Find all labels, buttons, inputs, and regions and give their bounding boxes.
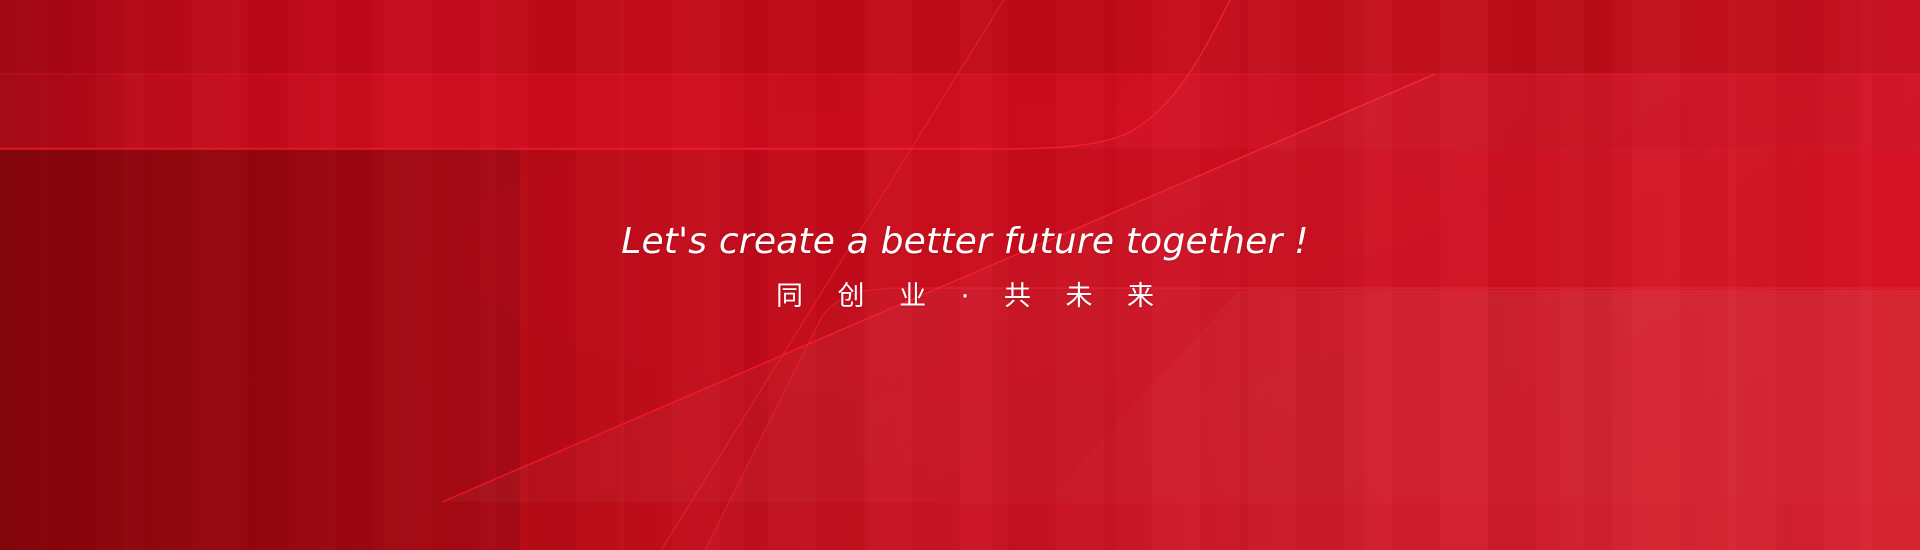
promo-banner: Let's create a better future together ! … (0, 0, 1920, 550)
lower-left-deepen (0, 148, 520, 550)
headline-glow (460, 100, 1500, 400)
banner-background-art (0, 0, 1920, 550)
